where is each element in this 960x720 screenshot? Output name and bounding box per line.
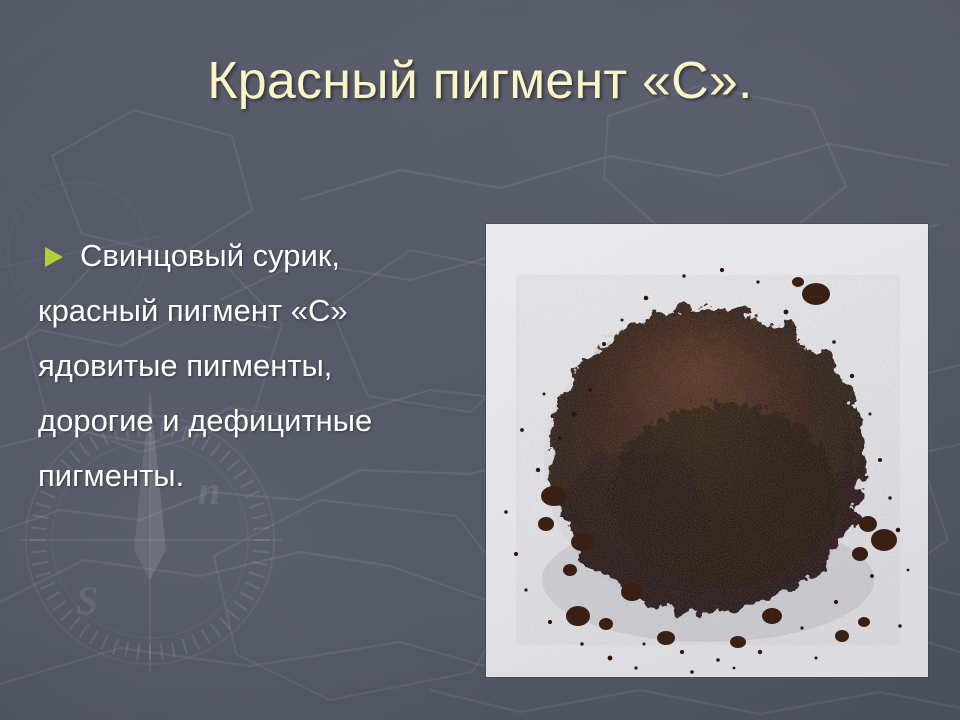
body-line-1-text: Свинцовый сурик, [80, 238, 340, 273]
pigment-powder-illustration [486, 224, 928, 677]
presentation-slide: S n Красный пигмент «С». Свинцовый сурик… [0, 0, 960, 720]
slide-title: Красный пигмент «С». [0, 52, 960, 110]
pigment-powder-photo [486, 224, 928, 677]
body-line-1: Свинцовый сурик, [38, 228, 468, 283]
body-line-4: дорогие и дефицитные [38, 393, 468, 448]
body-line-2: красный пигмент «С» [38, 283, 468, 338]
slide-body-text: Свинцовый сурик, красный пигмент «С» ядо… [38, 228, 468, 503]
body-line-5: пигменты. [38, 448, 468, 503]
triangle-right-bullet-icon [45, 247, 63, 267]
body-line-3: ядовитые пигменты, [38, 338, 468, 393]
